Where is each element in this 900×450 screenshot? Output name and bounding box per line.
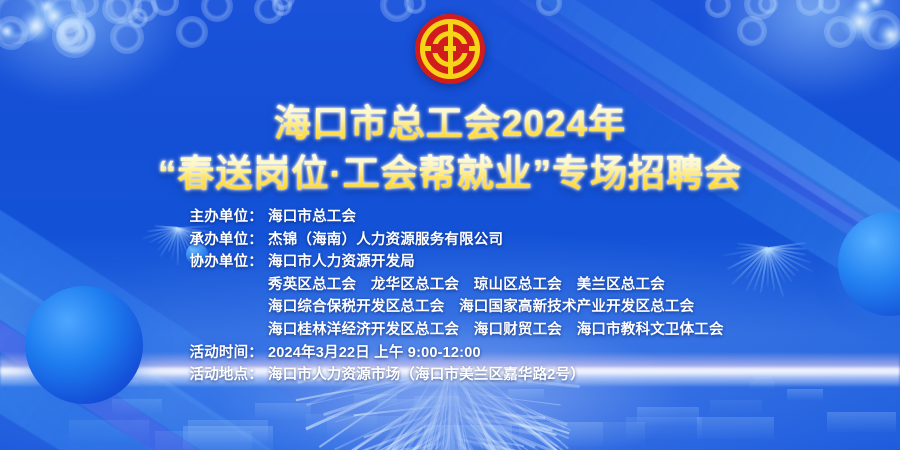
event-detail-row: 主办单位：海口市总工会 [0, 206, 900, 229]
all-china-federation-of-trade-unions-emblem [415, 14, 485, 84]
poster-banner: 海口市总工会2024年 “春送岗位·工会帮就业”专场招聘会 主办单位：海口市总工… [0, 0, 900, 450]
page-title: 海口市总工会2024年 “春送岗位·工会帮就业”专场招聘会 [0, 102, 900, 195]
event-detail-label: 协办单位： [0, 251, 268, 274]
title-line-1: 海口市总工会2024年 [0, 102, 900, 146]
event-detail-value: 秀英区总工会 龙华区总工会 琼山区总工会 美兰区总工会 [268, 274, 665, 297]
event-detail-label: 活动地点： [0, 364, 268, 387]
event-detail-row: 协办单位：海口桂林洋经济开发区总工会 海口财贸工会 海口市教科文卫体工会 [0, 319, 900, 342]
event-detail-row: 协办单位：海口综合保税开发区总工会 海口国家高新技术产业开发区总工会 [0, 296, 900, 319]
event-detail-value: 海口市人力资源市场（海口市美兰区嘉华路2号） [268, 364, 585, 387]
event-detail-row: 活动地点：海口市人力资源市场（海口市美兰区嘉华路2号） [0, 364, 900, 387]
event-detail-value: 海口桂林洋经济开发区总工会 海口财贸工会 海口市教科文卫体工会 [268, 319, 724, 342]
event-detail-value: 海口市人力资源开发局 [268, 251, 415, 274]
event-detail-row: 协办单位：秀英区总工会 龙华区总工会 琼山区总工会 美兰区总工会 [0, 274, 900, 297]
event-detail-value: 杰锦（海南）人力资源服务有限公司 [268, 229, 503, 252]
event-detail-value: 2024年3月22日 上午 9:00-12:00 [268, 342, 481, 365]
event-detail-label: 活动时间： [0, 342, 268, 365]
event-detail-value: 海口市总工会 [268, 206, 356, 229]
emblem-right-notch [456, 44, 469, 53]
event-detail-row: 承办单位：杰锦（海南）人力资源服务有限公司 [0, 229, 900, 252]
event-detail-label: 主办单位： [0, 206, 268, 229]
event-details: 主办单位：海口市总工会承办单位：杰锦（海南）人力资源服务有限公司协办单位：海口市… [0, 206, 900, 387]
event-detail-row: 协办单位：海口市人力资源开发局 [0, 251, 900, 274]
emblem-left-notch [431, 44, 444, 53]
event-detail-value: 海口综合保税开发区总工会 海口国家高新技术产业开发区总工会 [268, 296, 694, 319]
event-detail-row: 活动时间：2024年3月22日 上午 9:00-12:00 [0, 342, 900, 365]
event-detail-label: 承办单位： [0, 229, 268, 252]
title-line-2: “春送岗位·工会帮就业”专场招聘会 [0, 152, 900, 196]
